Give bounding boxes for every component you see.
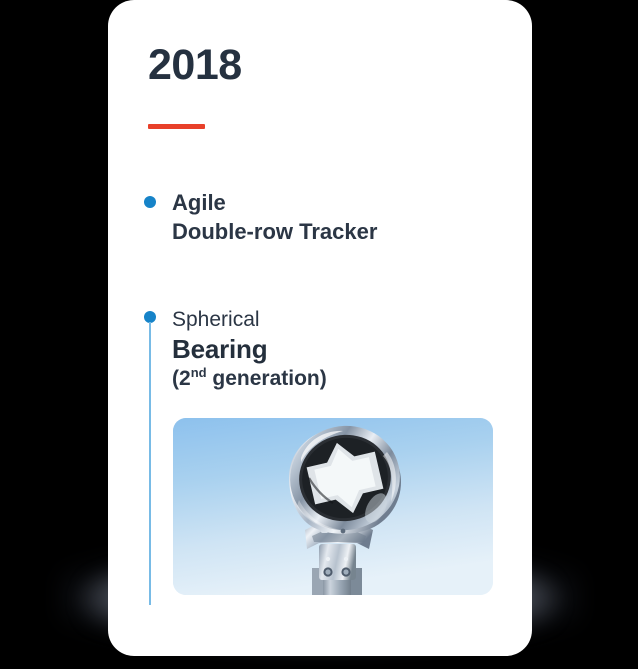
- list-item-line: Agile: [172, 188, 377, 217]
- bullet-connector-line: [149, 322, 151, 605]
- list-item-line-generation: (2nd generation): [172, 365, 327, 393]
- list-item-agile: Agile Double-row Tracker: [172, 188, 377, 246]
- list-item-line: Spherical: [172, 306, 327, 334]
- gen-ordinal-suffix: nd: [191, 365, 207, 380]
- bullet-dot-agile: [144, 196, 156, 208]
- gen-word: generation: [207, 367, 320, 390]
- gen-number: 2: [179, 367, 191, 390]
- list-item-spherical-bearing: Spherical Bearing (2nd generation): [172, 306, 327, 393]
- bearing-illustration: [173, 418, 493, 595]
- spherical-bearing-photo: [173, 418, 493, 595]
- timeline-year-card: 2018 Agile Double-row Tracker Spherical …: [108, 0, 532, 656]
- gen-close-paren: ): [320, 367, 327, 390]
- gen-open-paren: (: [172, 367, 179, 390]
- list-item-line: Double-row Tracker: [172, 217, 377, 246]
- screenshot-stage: 2018 Agile Double-row Tracker Spherical …: [0, 0, 638, 669]
- accent-divider: [148, 124, 205, 129]
- list-item-line-emphasis: Bearing: [172, 334, 327, 365]
- page-title: 2018: [148, 44, 242, 87]
